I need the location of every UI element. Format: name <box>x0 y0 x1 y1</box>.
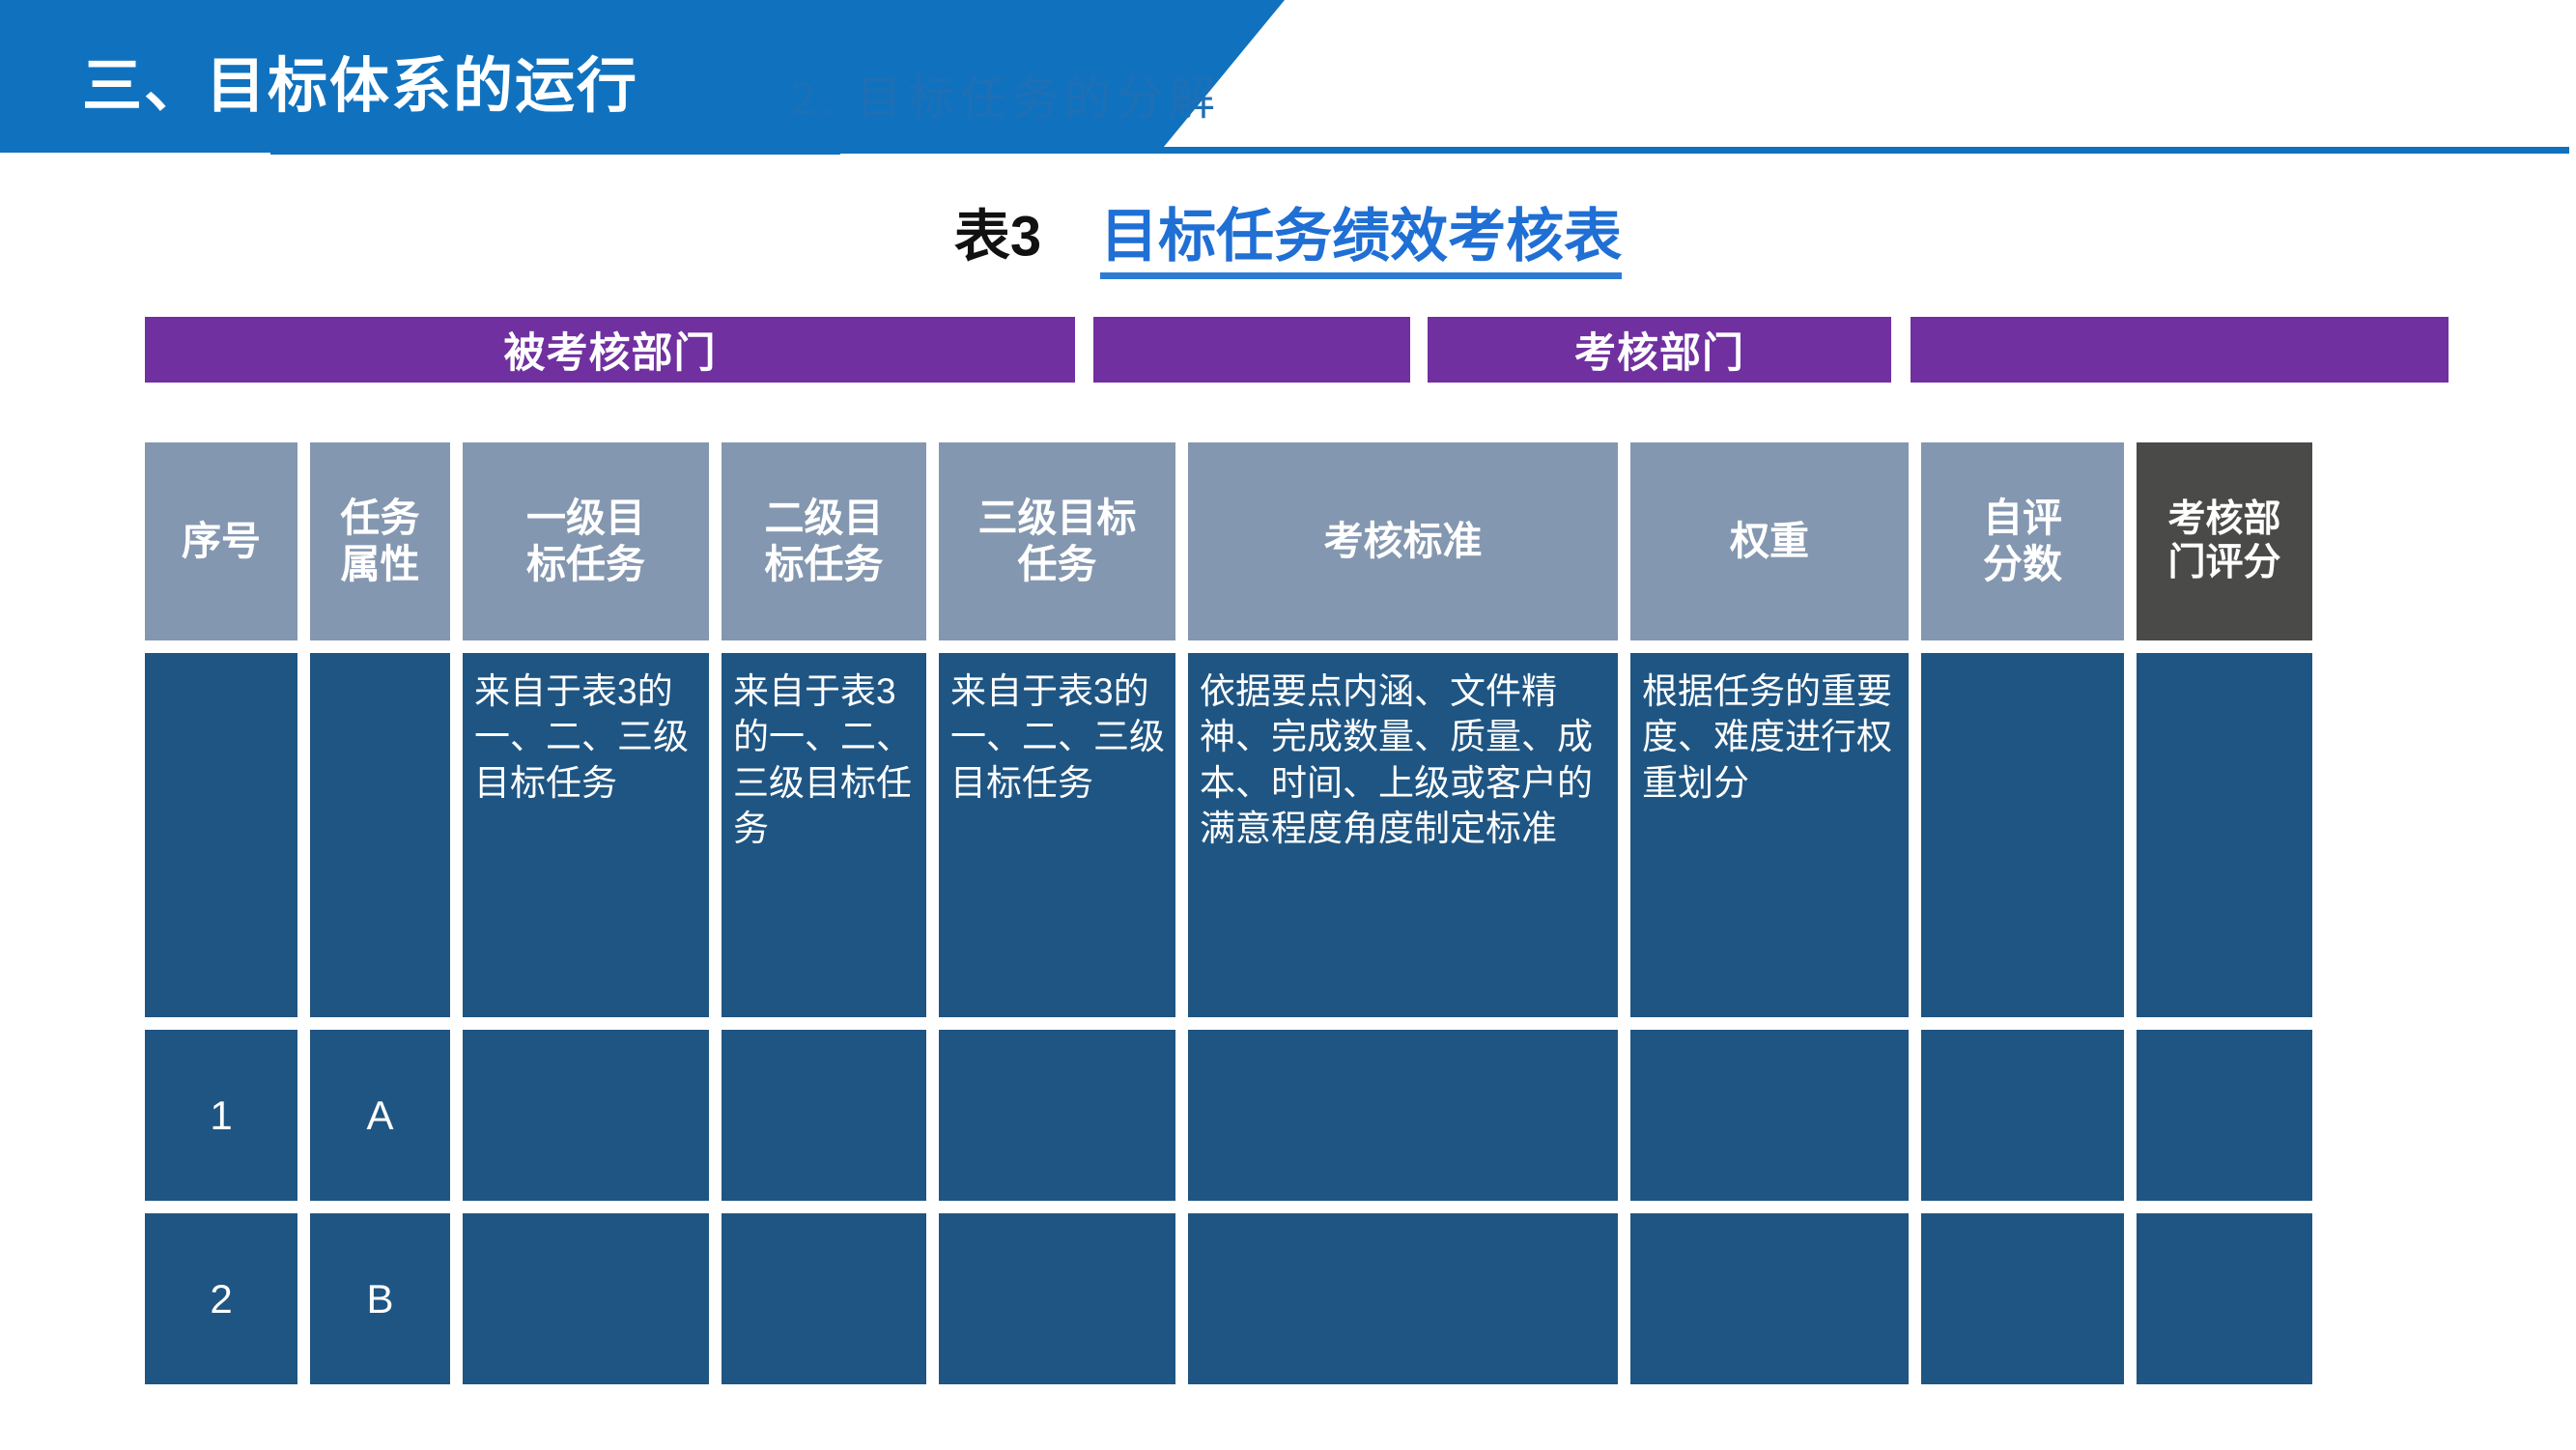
table-cell <box>2137 653 2312 1017</box>
column-header-label: 一级目标任务 <box>526 496 645 586</box>
table-row: 1 A <box>145 1030 2449 1201</box>
table-cell: 根据任务的重要度、难度进行权重划分 <box>1630 653 1909 1017</box>
cell-text: 来自于表3的一、二、三级目标任务 <box>950 668 1166 806</box>
column-header-task-attribute: 任务属性 <box>310 442 450 640</box>
cell-text: A <box>366 1095 393 1136</box>
banner-segment-label: 被考核部门 <box>504 320 717 380</box>
column-header-label: 三级目标任务 <box>978 496 1137 586</box>
table-cell <box>1921 653 2124 1017</box>
table-header-row: 序号 任务属性 一级目标任务 二级目标任务 三级目标任务 考核标准 权重 自评分… <box>145 442 2449 640</box>
table-cell <box>722 1213 926 1384</box>
table-cell <box>2137 1030 2312 1201</box>
table-row: 2 B <box>145 1213 2449 1384</box>
section-subtitle: 2. 目标任务的分解 <box>792 60 1221 128</box>
column-header-label: 权重 <box>1730 519 1809 564</box>
table-cell <box>1921 1213 2124 1384</box>
table-cell: 依据要点内涵、文件精神、完成数量、质量、成本、时间、上级或客户的满意程度角度制定… <box>1188 653 1618 1017</box>
table-cell: 来自于表3的一、二、三级目标任务 <box>463 653 709 1017</box>
column-header-label: 序号 <box>182 519 261 564</box>
table-cell <box>1630 1030 1909 1201</box>
cell-text: 依据要点内涵、文件精神、完成数量、质量、成本、时间、上级或客户的满意程度角度制定… <box>1200 668 1608 851</box>
cell-text: 来自于表3的一、二、三级目标任务 <box>733 668 917 851</box>
column-header-label: 二级目标任务 <box>765 496 884 586</box>
table-name-label: 目标任务绩效考核表 <box>1100 204 1622 279</box>
banner-segment-assessed-department: 被考核部门 <box>145 317 1075 383</box>
department-banner-row: 被考核部门 考核部门 <box>145 317 2449 383</box>
column-header-label: 考核部门评分 <box>2167 498 2280 585</box>
banner-segment-assessing-department: 考核部门 <box>1428 317 1891 383</box>
column-header-self-score: 自评分数 <box>1921 442 2124 640</box>
banner-underline-accent <box>270 147 840 155</box>
column-header-weight: 权重 <box>1630 442 1909 640</box>
table-cell <box>939 1213 1175 1384</box>
table-description-row: 来自于表3的一、二、三级目标任务 来自于表3的一、二、三级目标任务 来自于表3的… <box>145 653 2449 1017</box>
table-cell <box>145 653 297 1017</box>
cell-text: 来自于表3的一、二、三级目标任务 <box>474 668 699 806</box>
table-cell <box>463 1030 709 1201</box>
column-header-label: 考核标准 <box>1324 519 1483 564</box>
table-cell <box>722 1030 926 1201</box>
column-header-level3-goal: 三级目标任务 <box>939 442 1175 640</box>
table-cell <box>1630 1213 1909 1384</box>
table-cell: 来自于表3的一、二、三级目标任务 <box>722 653 926 1017</box>
table-cell <box>1188 1030 1618 1201</box>
subtitle-underline-rule <box>763 147 2569 154</box>
banner-segment-blank-1 <box>1093 317 1410 383</box>
table-cell: 来自于表3的一、二、三级目标任务 <box>939 653 1175 1017</box>
column-header-label: 任务属性 <box>341 496 420 586</box>
banner-segment-blank-2 <box>1911 317 2449 383</box>
column-header-label: 自评分数 <box>1983 496 2062 586</box>
banner-segment-label: 考核部门 <box>1574 320 1744 380</box>
table-cell <box>939 1030 1175 1201</box>
cell-text: 2 <box>210 1279 232 1320</box>
table-cell <box>310 653 450 1017</box>
cell-text: B <box>366 1279 393 1320</box>
table-cell <box>1188 1213 1618 1384</box>
table-cell <box>1921 1030 2124 1201</box>
table-number-label: 表3 <box>954 206 1041 269</box>
cell-text: 1 <box>210 1095 232 1136</box>
cell-text: 根据任务的重要度、难度进行权重划分 <box>1642 668 1899 806</box>
table-cell <box>463 1213 709 1384</box>
table-cell: A <box>310 1030 450 1201</box>
page-title: 表3 目标任务绩效考核表 <box>0 189 2576 273</box>
column-header-assessment-standard: 考核标准 <box>1188 442 1618 640</box>
table-cell: 2 <box>145 1213 297 1384</box>
table-cell <box>2137 1213 2312 1384</box>
column-header-department-score: 考核部门评分 <box>2137 442 2312 640</box>
banner-title: 三、目标体系的运行 <box>82 37 638 124</box>
column-header-level2-goal: 二级目标任务 <box>722 442 926 640</box>
column-header-level1-goal: 一级目标任务 <box>463 442 709 640</box>
column-header-sequence: 序号 <box>145 442 297 640</box>
performance-assessment-table: 被考核部门 考核部门 序号 任务属性 一级目标任务 二级目标任务 三级目标任务 … <box>145 317 2449 1397</box>
table-cell: B <box>310 1213 450 1384</box>
table-cell: 1 <box>145 1030 297 1201</box>
